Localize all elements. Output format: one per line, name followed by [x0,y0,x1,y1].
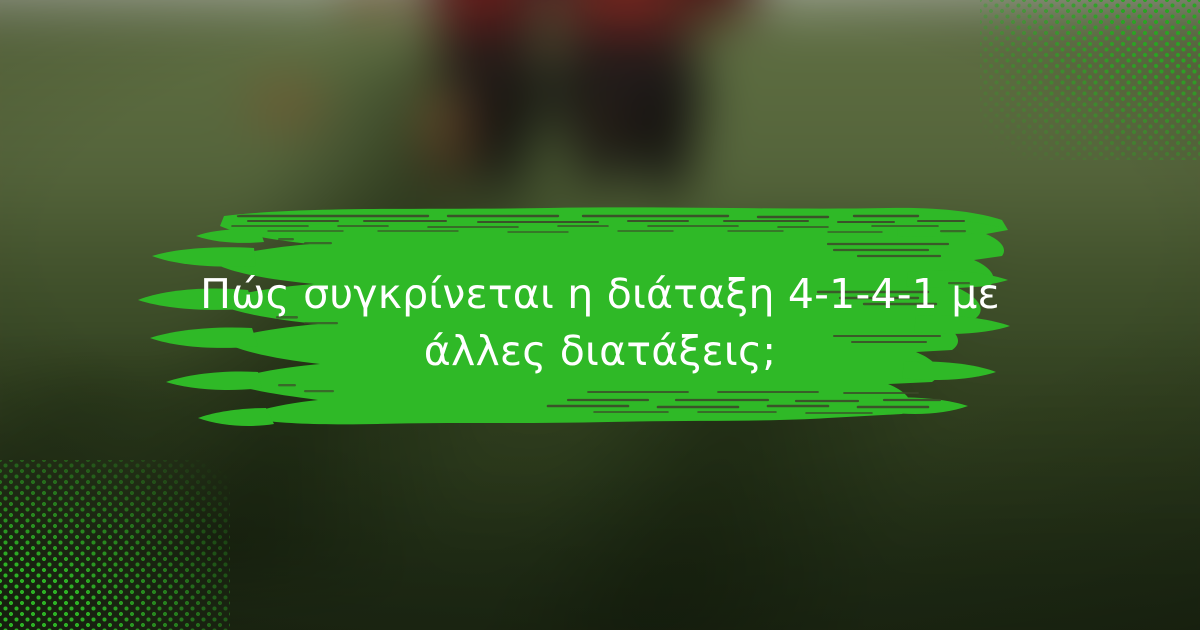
social-share-card: Πώς συγκρίνεται η διάταξη 4-1-4-1 με άλλ… [0,0,1200,630]
page-title: Πώς συγκρίνεται η διάταξη 4-1-4-1 με άλλ… [150,266,1050,380]
